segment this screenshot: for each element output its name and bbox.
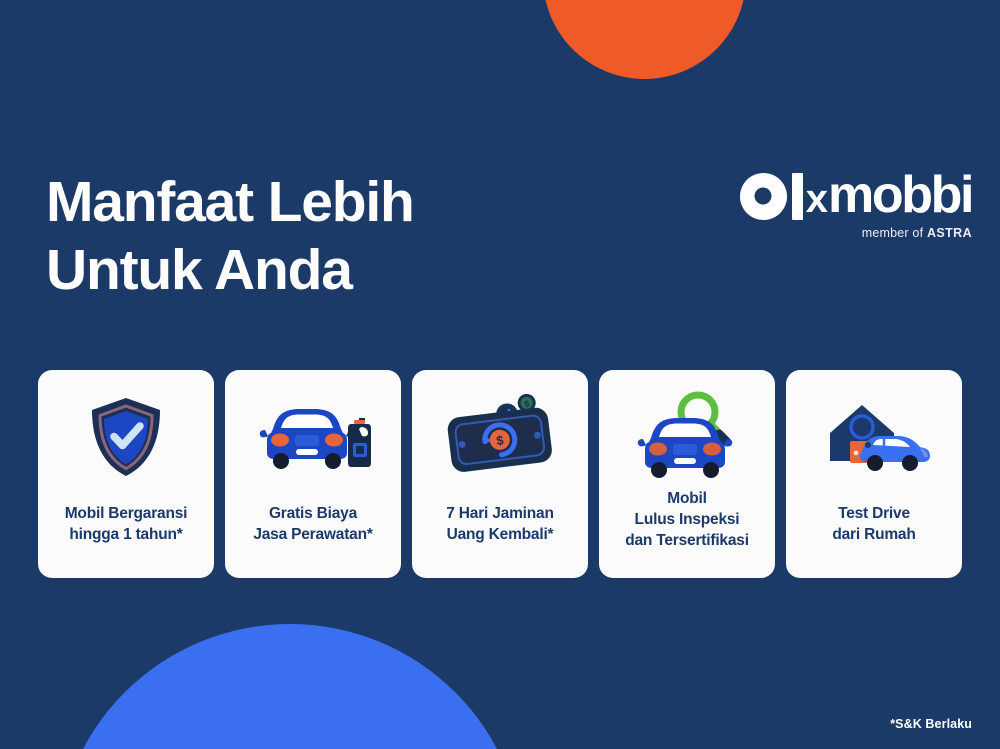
logo-x-letter: x <box>806 179 827 219</box>
benefit-card-money-back[interactable]: $ $ <box>412 370 588 578</box>
benefit-card-label: 7 Hari Jaminan Uang Kembali* <box>446 504 553 546</box>
house-car-icon <box>796 382 952 492</box>
benefit-card-label: Gratis Biaya Jasa Perawatan* <box>253 504 372 546</box>
decorative-orange-circle <box>543 0 746 79</box>
logo-o-icon <box>740 173 787 220</box>
logo-wordmark: x mobbi <box>740 170 972 222</box>
benefit-card-list: Mobil Bergaransi hingga 1 tahun* <box>38 370 962 578</box>
benefit-card-label: Mobil Lulus Inspeksi dan Tersertifikasi <box>625 489 749 552</box>
decorative-blue-circle <box>56 624 524 749</box>
logo-mobbi-text: mobbi <box>828 169 972 221</box>
page-title: Manfaat Lebih Untuk Anda <box>46 168 414 305</box>
benefit-card-inspection[interactable]: Mobil Lulus Inspeksi dan Tersertifikasi <box>599 370 775 578</box>
benefit-card-warranty[interactable]: Mobil Bergaransi hingga 1 tahun* <box>38 370 214 578</box>
logo-member-line: member of ASTRA <box>740 226 972 240</box>
benefit-card-free-service[interactable]: Gratis Biaya Jasa Perawatan* <box>225 370 401 578</box>
logo-member-prefix: member of <box>862 226 927 240</box>
logo-member-brand: ASTRA <box>927 226 972 240</box>
car-oil-can-icon <box>235 382 391 492</box>
car-magnifier-icon <box>609 382 765 489</box>
benefit-card-label: Test Drive dari Rumah <box>832 504 915 546</box>
terms-footnote: *S&K Berlaku <box>890 717 972 731</box>
brand-logo: x mobbi member of ASTRA <box>740 170 972 240</box>
promo-banner: Manfaat Lebih Untuk Anda x mobbi member … <box>0 0 1000 749</box>
money-back-icon: $ $ <box>422 382 578 492</box>
logo-l-icon <box>792 173 803 220</box>
benefit-card-label: Mobil Bergaransi hingga 1 tahun* <box>65 504 188 546</box>
benefit-card-home-test-drive[interactable]: Test Drive dari Rumah <box>786 370 962 578</box>
shield-check-icon <box>48 382 204 492</box>
